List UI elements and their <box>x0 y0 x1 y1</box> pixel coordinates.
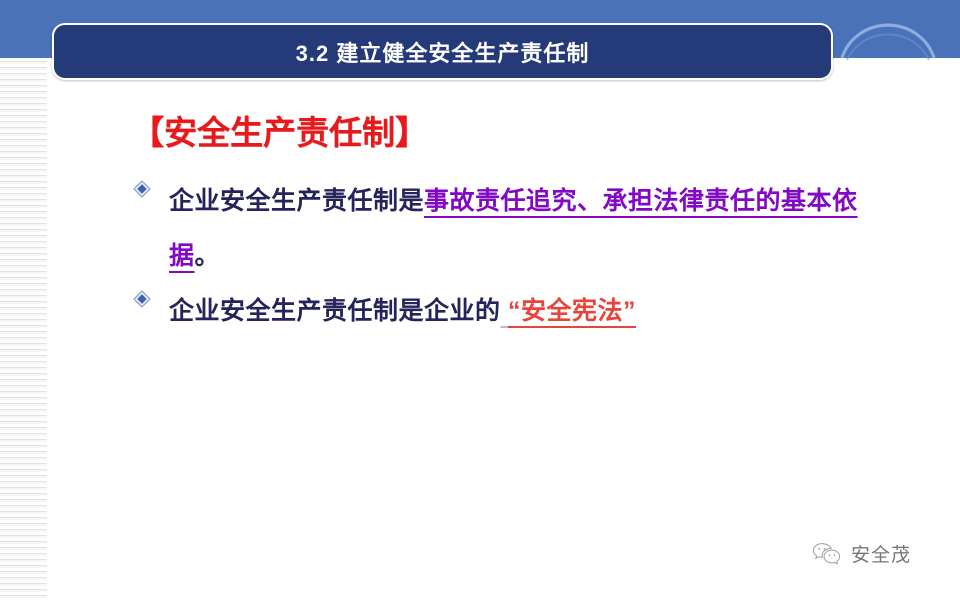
slide-content: 【安全生产责任制】 企业安全生产责任制是事故责任追究、承担法律责任的基本依据。 … <box>0 92 960 512</box>
bullet-1-segment-1: 企业安全生产责任制是 <box>169 187 424 215</box>
wechat-icon <box>812 541 842 567</box>
footer-brand: 安全茂 <box>812 540 911 567</box>
left-band-top-fill <box>0 0 47 58</box>
list-item: 企业安全生产责任制是事故责任追究、承担法律责任的基本依据。 <box>131 174 891 284</box>
footer-brand-text: 安全茂 <box>851 540 911 567</box>
list-item-text: 企业安全生产责任制是企业的 “安全宪法” <box>169 284 891 339</box>
bullet-2-segment-3: “安全宪法” <box>508 297 636 325</box>
slide-title-bar: 3.2 建立健全安全生产责任制 <box>52 23 833 80</box>
list-item-text: 企业安全生产责任制是事故责任追究、承担法律责任的基本依据。 <box>169 174 891 284</box>
bullet-2-segment-1: 企业安全生产责任制是企业的 <box>169 297 501 325</box>
section-heading: 【安全生产责任制】 <box>131 106 428 154</box>
bullet-1-segment-2: 事故责任追究、承担法律 <box>424 187 705 215</box>
decorative-arc-icon <box>838 4 938 62</box>
diamond-bullet-icon <box>131 284 153 314</box>
diamond-bullet-icon <box>131 174 153 204</box>
bullet-1-segment-4: 。 <box>195 242 221 270</box>
list-item: 企业安全生产责任制是企业的 “安全宪法” <box>131 284 891 339</box>
bullet-2-segment-2 <box>501 297 508 325</box>
slide-title-text: 3.2 建立健全安全生产责任制 <box>296 36 590 68</box>
